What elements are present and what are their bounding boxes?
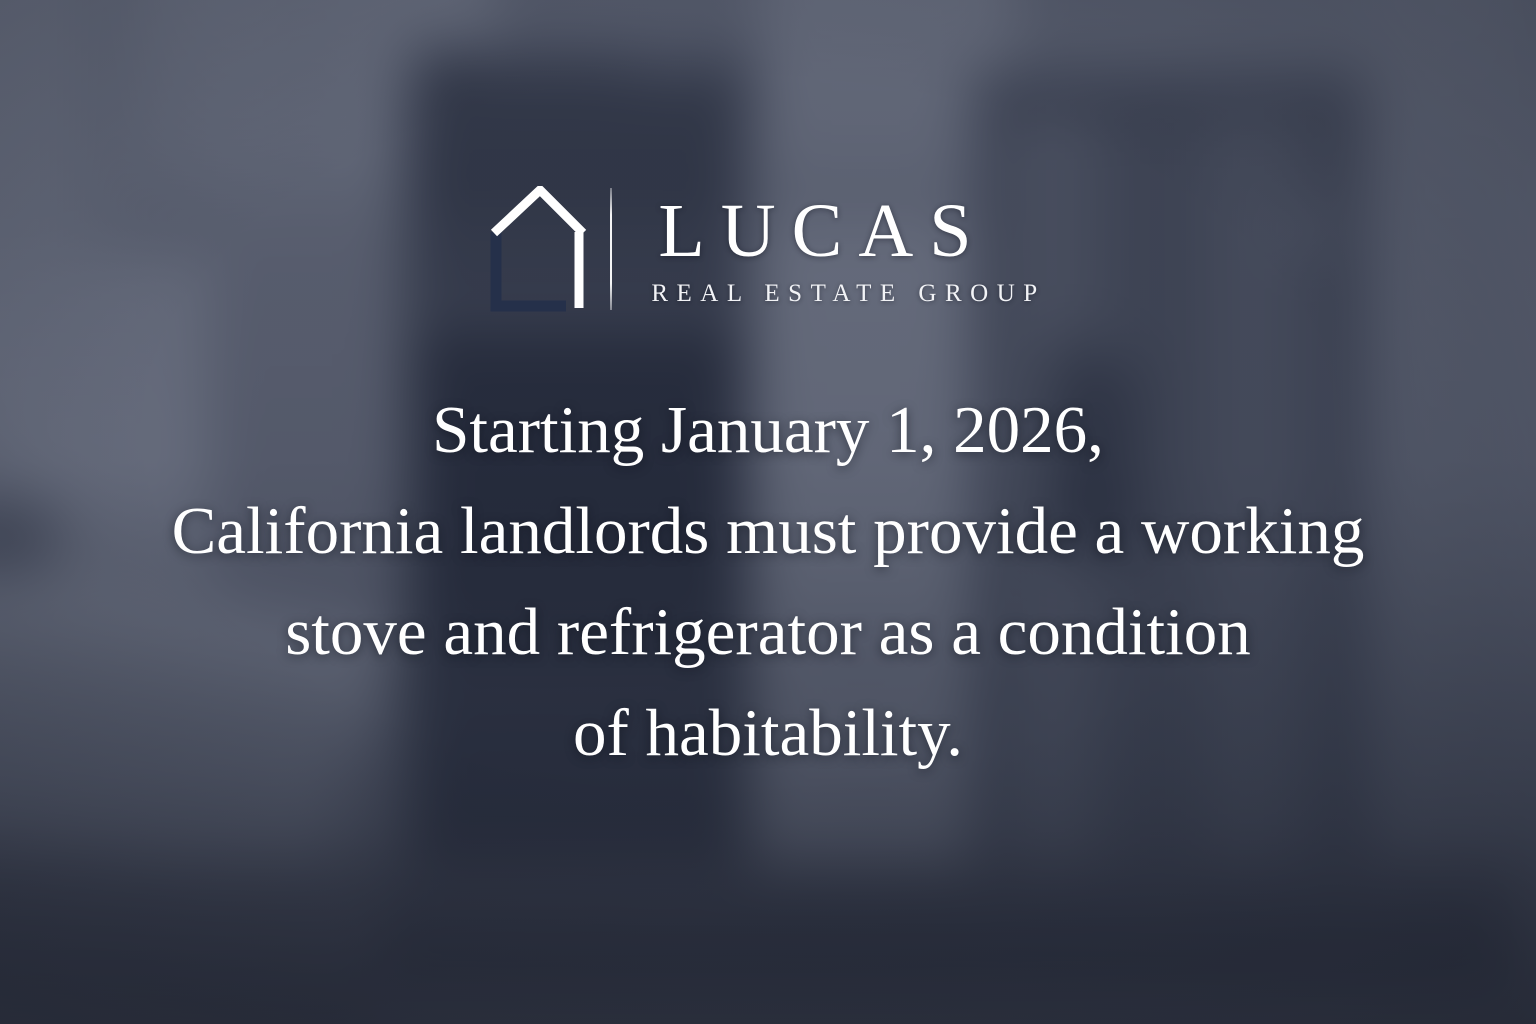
content-layer: LUCAS REAL ESTATE GROUP Starting January…	[0, 0, 1536, 1024]
headline-line-3: stove and refrigerator as a condition	[108, 582, 1428, 683]
headline-line-4: of habitability.	[108, 683, 1428, 784]
headline-line-1: Starting January 1, 2026,	[108, 380, 1428, 481]
vertical-divider	[610, 188, 612, 310]
house-outline-icon	[490, 186, 588, 312]
brand-tagline: REAL ESTATE GROUP	[642, 280, 1045, 308]
headline-line-2: California landlords must provide a work…	[108, 481, 1428, 582]
promo-graphic: LUCAS REAL ESTATE GROUP Starting January…	[0, 0, 1536, 1024]
brand-logo-lockup: LUCAS REAL ESTATE GROUP	[490, 178, 1045, 320]
brand-name: LUCAS	[642, 194, 1045, 268]
brand-wordmark: LUCAS REAL ESTATE GROUP	[642, 190, 1045, 308]
headline-block: Starting January 1, 2026, California lan…	[108, 380, 1428, 784]
